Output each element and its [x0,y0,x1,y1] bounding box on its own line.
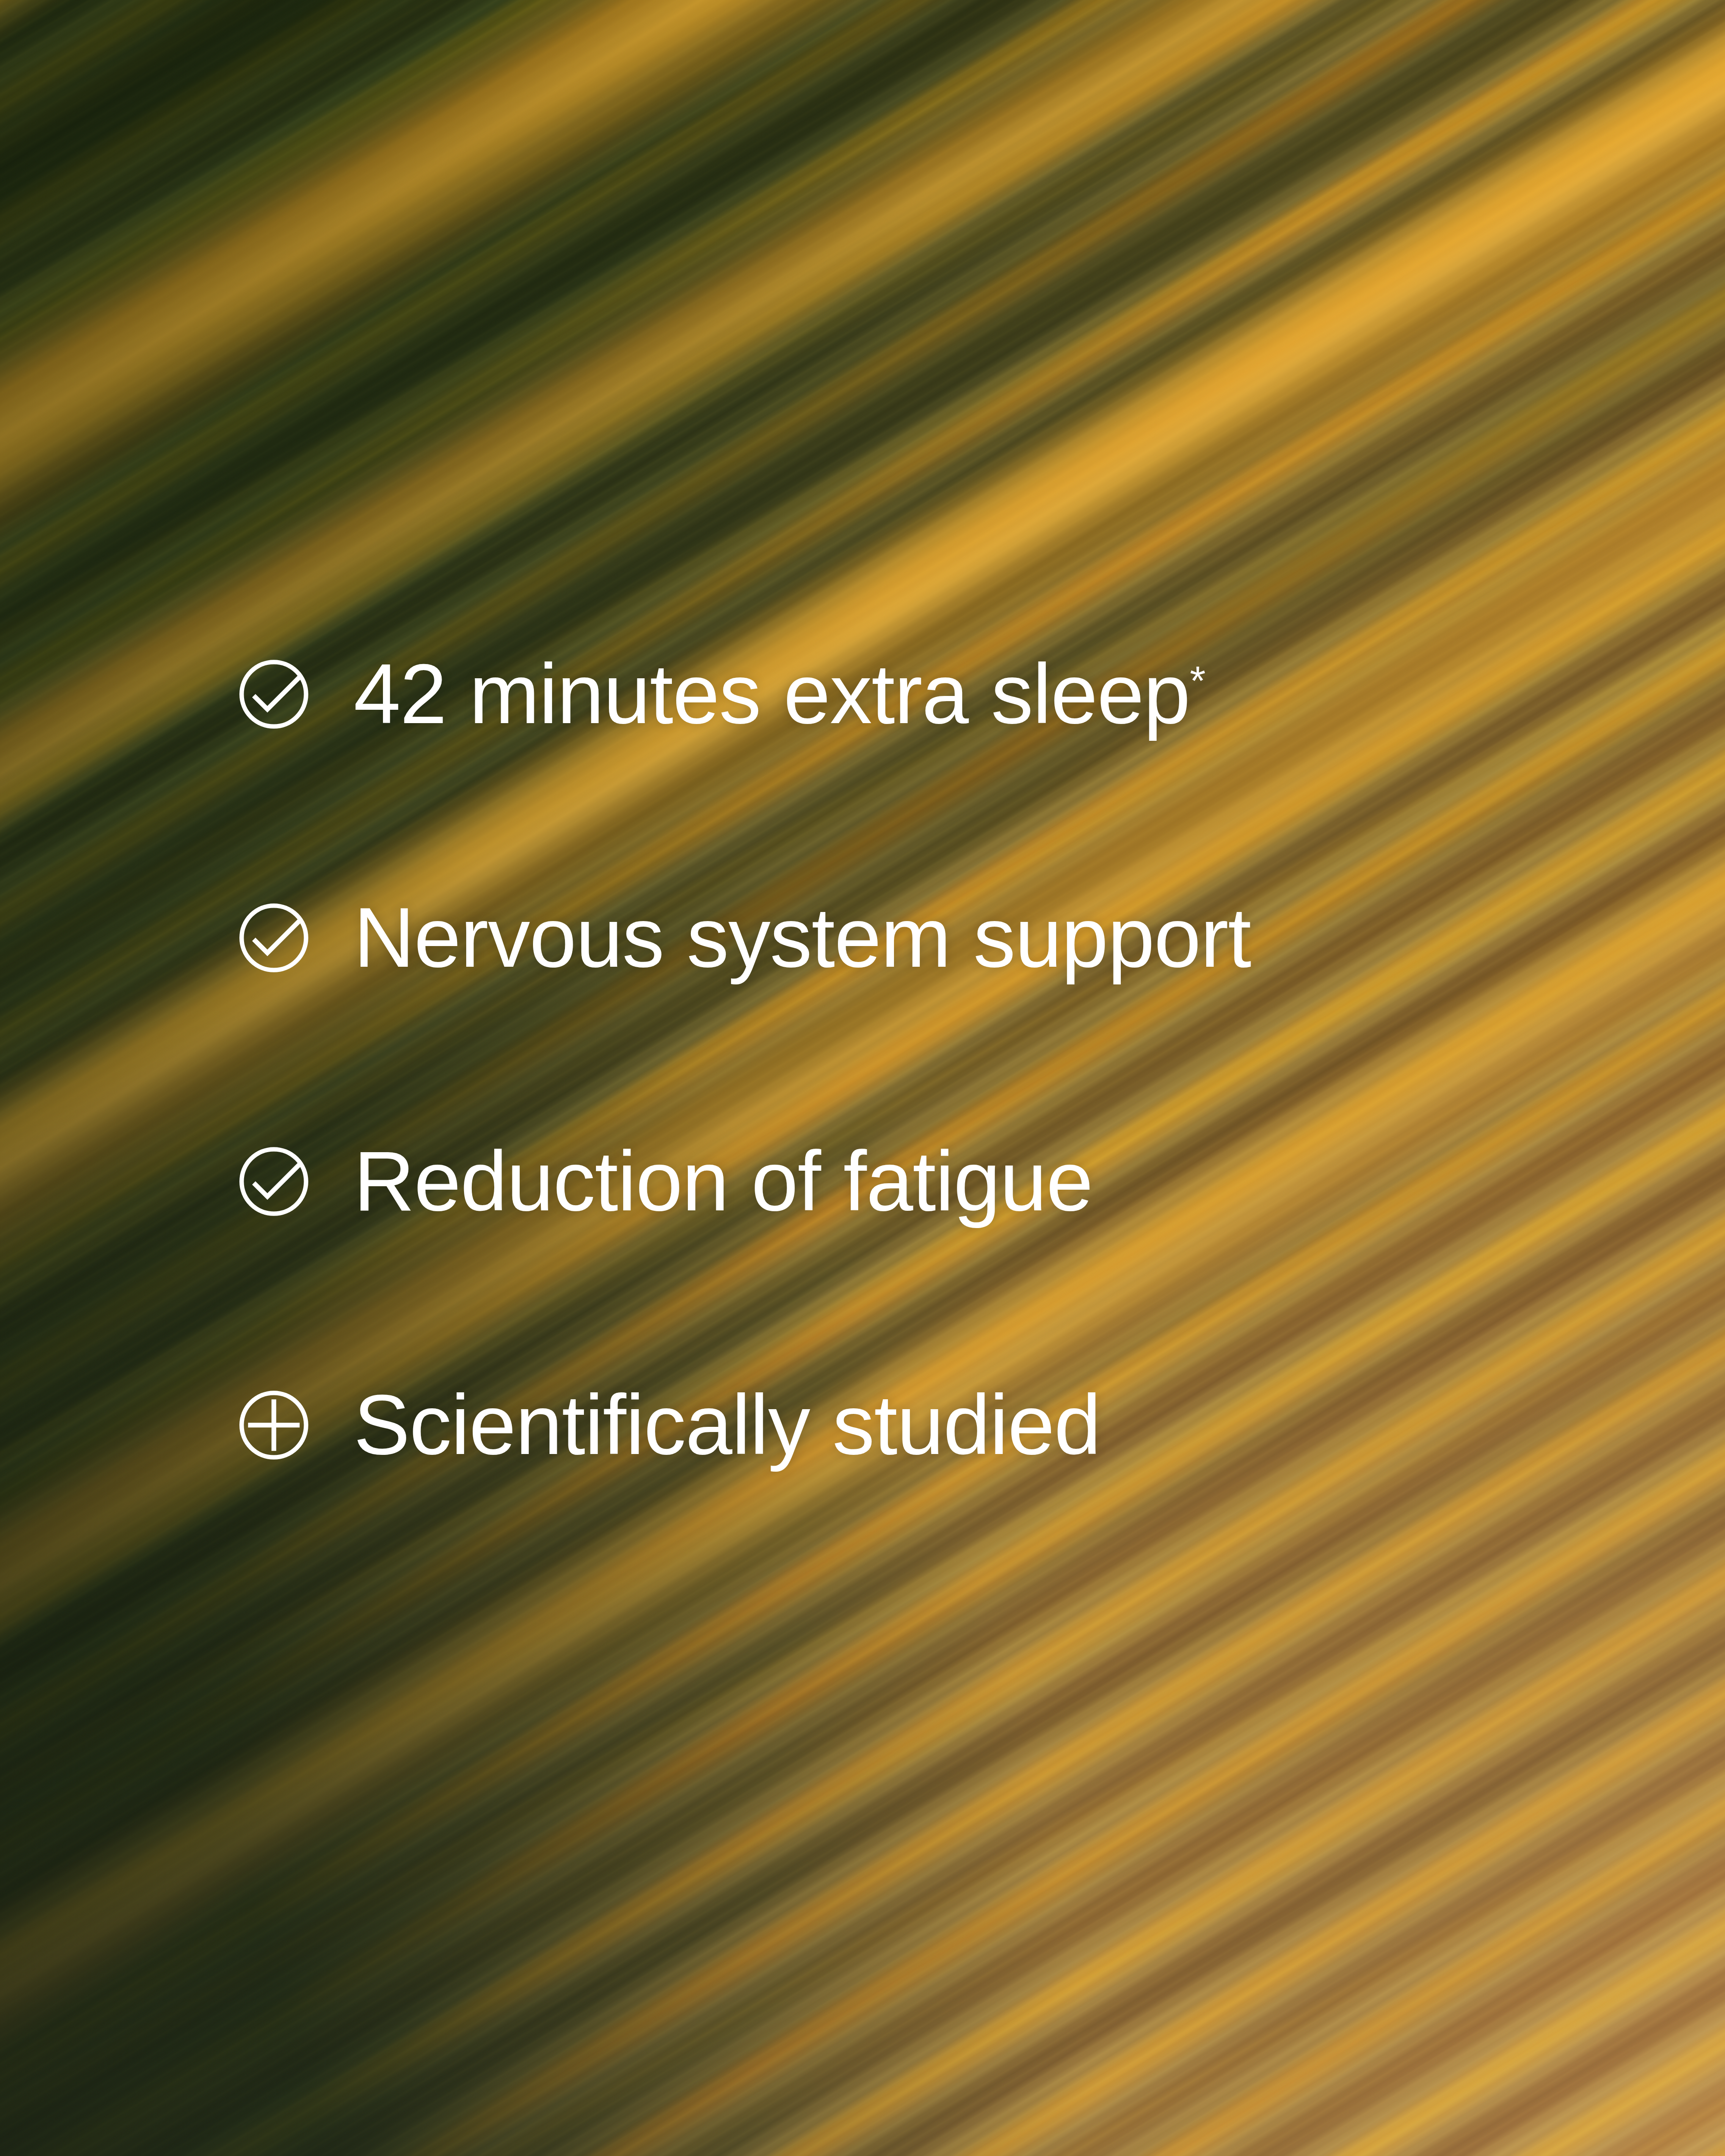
benefit-item-extra-sleep: 42 minutes extra sleep* [238,649,1532,740]
check-circle-icon [238,902,310,974]
benefit-label-text: Reduction of fatigue [354,1134,1092,1228]
benefit-label-superscript: * [1190,658,1206,703]
check-circle-icon [238,658,310,730]
benefit-label-text: 42 minutes extra sleep [354,647,1190,741]
benefits-list: 42 minutes extra sleep* Nervous system s… [238,649,1532,1470]
benefit-item-scientifically-studied[interactable]: Scientifically studied [238,1380,1532,1470]
benefit-item-nervous-system: Nervous system support [238,893,1532,983]
check-circle-icon [238,1146,310,1217]
benefit-label-text: Scientifically studied [354,1378,1101,1472]
benefit-label-text: Nervous system support [354,890,1251,985]
benefit-label: Nervous system support [354,896,1251,980]
plus-circle-icon[interactable] [238,1389,310,1461]
benefits-hero: 42 minutes extra sleep* Nervous system s… [0,0,1725,2156]
benefit-label: Scientifically studied [354,1383,1101,1467]
benefit-item-reduction-of-fatigue: Reduction of fatigue [238,1136,1532,1227]
benefit-label: 42 minutes extra sleep* [354,652,1206,736]
benefit-label: Reduction of fatigue [354,1139,1092,1224]
